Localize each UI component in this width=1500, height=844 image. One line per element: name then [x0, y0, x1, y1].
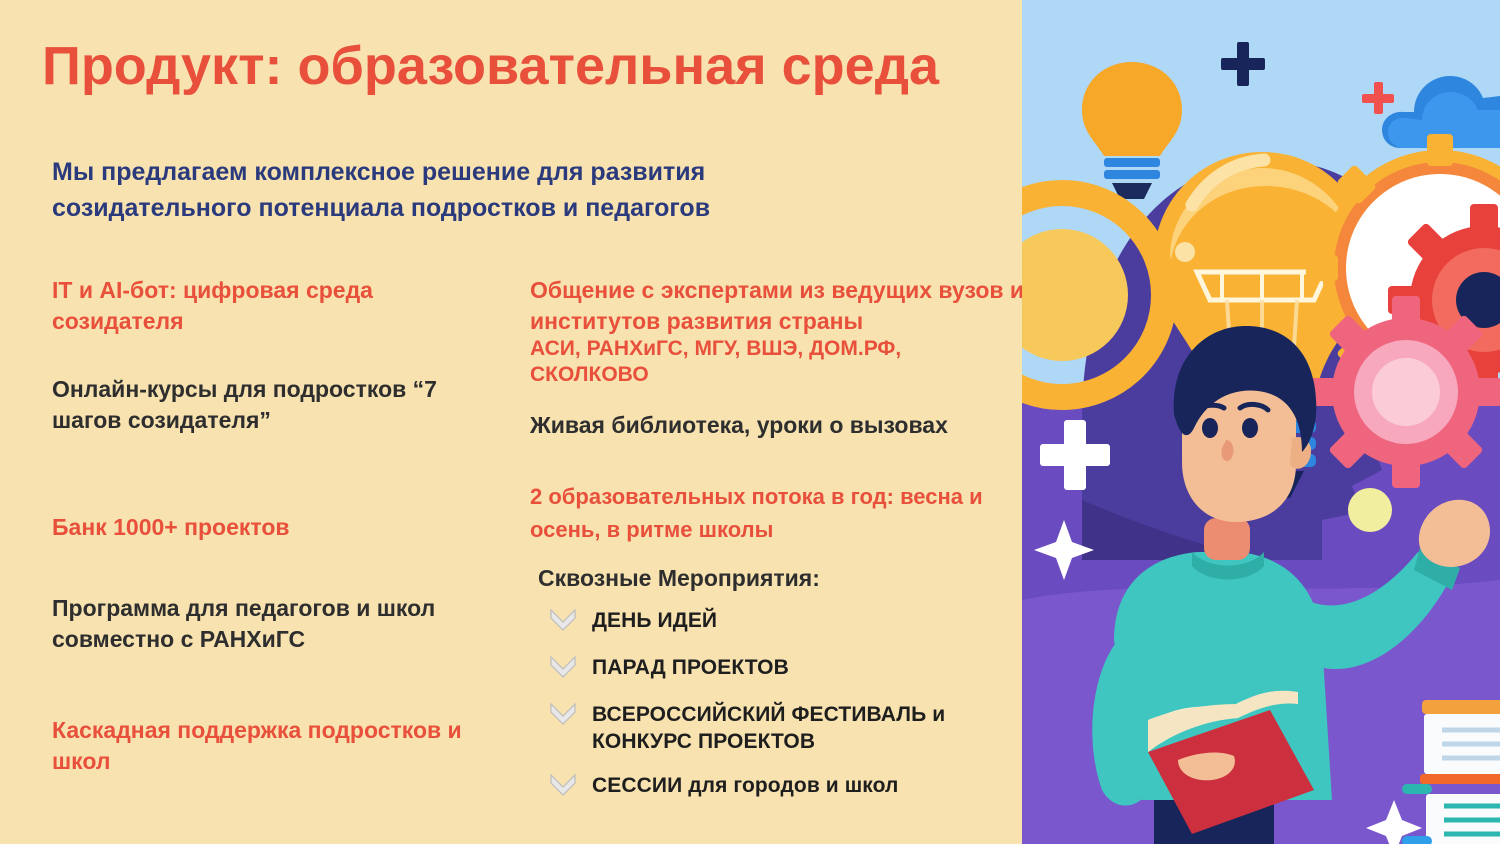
slide-content-area: Продукт: образовательная среда Мы предла…	[0, 0, 1022, 844]
list-item: ПАРАД ПРОЕКТОВ	[530, 652, 1025, 685]
events-list: ДЕНЬ ИДЕЙ ПАРАД ПРОЕКТОВ	[530, 605, 1025, 803]
feature-teacher-program: Программа для педагогов и школ совместно…	[52, 593, 482, 654]
chevron-down-icon	[548, 606, 578, 638]
experts-heading: Общение с экспертами из ведущих вузов и …	[530, 277, 1024, 334]
list-item-label: ДЕНЬ ИДЕЙ	[592, 605, 717, 634]
feature-experts: Общение с экспертами из ведущих вузов и …	[530, 275, 1025, 389]
chevron-down-icon	[548, 700, 578, 732]
list-item: СЕССИИ для городов и школ	[530, 770, 1025, 803]
list-item-label: ВСЕРОССИЙСКИЙ ФЕСТИВАЛЬ и КОНКУРС ПРОЕКТ…	[592, 699, 1025, 756]
feature-online-courses: Онлайн-курсы для подростков “7 шагов соз…	[52, 374, 482, 435]
page-title: Продукт: образовательная среда	[42, 35, 939, 97]
chevron-down-icon	[548, 771, 578, 803]
gear-icon-pink	[1310, 296, 1500, 488]
list-item-label: ПАРАД ПРОЕКТОВ	[592, 652, 789, 681]
list-item: ВСЕРОССИЙСКИЙ ФЕСТИВАЛЬ и КОНКУРС ПРОЕКТ…	[530, 699, 1025, 756]
list-item-label: СЕССИИ для городов и школ	[592, 770, 899, 799]
slide-subtitle: Мы предлагаем комплексное решение для ра…	[52, 155, 892, 226]
feature-it-ai-bot: IT и AI-бот: цифровая среда созидателя	[52, 275, 482, 336]
experts-partners-list: АСИ, РАНХиГС, МГУ, ВШЭ, ДОМ.РФ, СКОЛКОВО	[530, 336, 1025, 389]
chevron-down-icon	[548, 653, 578, 685]
feature-project-bank: Банк 1000+ проектов	[52, 512, 290, 543]
presentation-slide: Продукт: образовательная среда Мы предла…	[0, 0, 1500, 844]
feature-living-library: Живая библиотека, уроки о вызовах	[530, 410, 948, 441]
feature-cascade-support: Каскадная поддержка подростков и школ	[52, 715, 482, 776]
list-item: ДЕНЬ ИДЕЙ	[530, 605, 1025, 638]
yellow-dot	[1348, 488, 1392, 532]
feature-two-streams: 2 образовательных потока в год: весна и …	[530, 480, 1025, 546]
events-heading: Сквозные Мероприятия:	[530, 563, 820, 594]
illustration-panel	[1022, 0, 1500, 844]
